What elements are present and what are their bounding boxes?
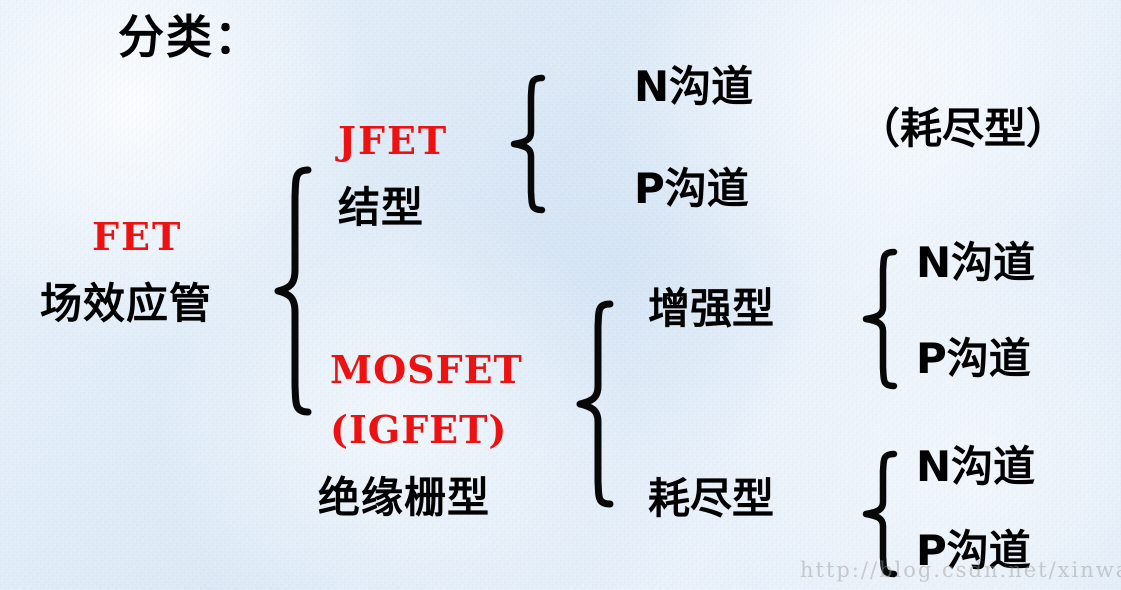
jfet-child-p-channel: P沟道 bbox=[634, 168, 749, 210]
enhancement-child-p-channel: P沟道 bbox=[916, 338, 1031, 380]
jfet-child-n-channel: N沟道 bbox=[634, 66, 753, 108]
enhancement-child-n-channel: N沟道 bbox=[916, 242, 1035, 284]
branch-name-cn-jfet: 结型 bbox=[338, 187, 424, 229]
slide-canvas: 分类： FET 场效应管 JFET 结型 N沟道 P沟道 （耗尽型） MOSFE… bbox=[0, 0, 1121, 590]
jfet-depletion-note: （耗尽型） bbox=[858, 108, 1068, 150]
jfet-curly-brace-icon bbox=[508, 74, 550, 214]
root-abbr-fet: FET bbox=[92, 218, 182, 256]
page-title: 分类： bbox=[118, 14, 262, 60]
depletion-child-n-channel: N沟道 bbox=[916, 446, 1035, 488]
root-curly-brace-icon bbox=[272, 166, 316, 416]
branch-abbr-jfet: JFET bbox=[338, 122, 448, 160]
branch-abbr-igfet: (IGFET) bbox=[330, 411, 507, 449]
mosfet-curly-brace-icon bbox=[574, 300, 618, 508]
depletion-child-p-channel: P沟道 bbox=[916, 530, 1031, 572]
enhancement-curly-brace-icon bbox=[860, 248, 902, 390]
depletion-curly-brace-icon bbox=[860, 450, 902, 578]
branch-name-cn-mosfet: 绝缘栅型 bbox=[318, 477, 490, 519]
branch-abbr-mosfet: MOSFET bbox=[330, 351, 523, 389]
root-name-cn: 场效应管 bbox=[40, 283, 212, 325]
mosfet-child-depletion: 耗尽型 bbox=[648, 478, 774, 520]
mosfet-child-enhancement: 增强型 bbox=[648, 288, 774, 330]
